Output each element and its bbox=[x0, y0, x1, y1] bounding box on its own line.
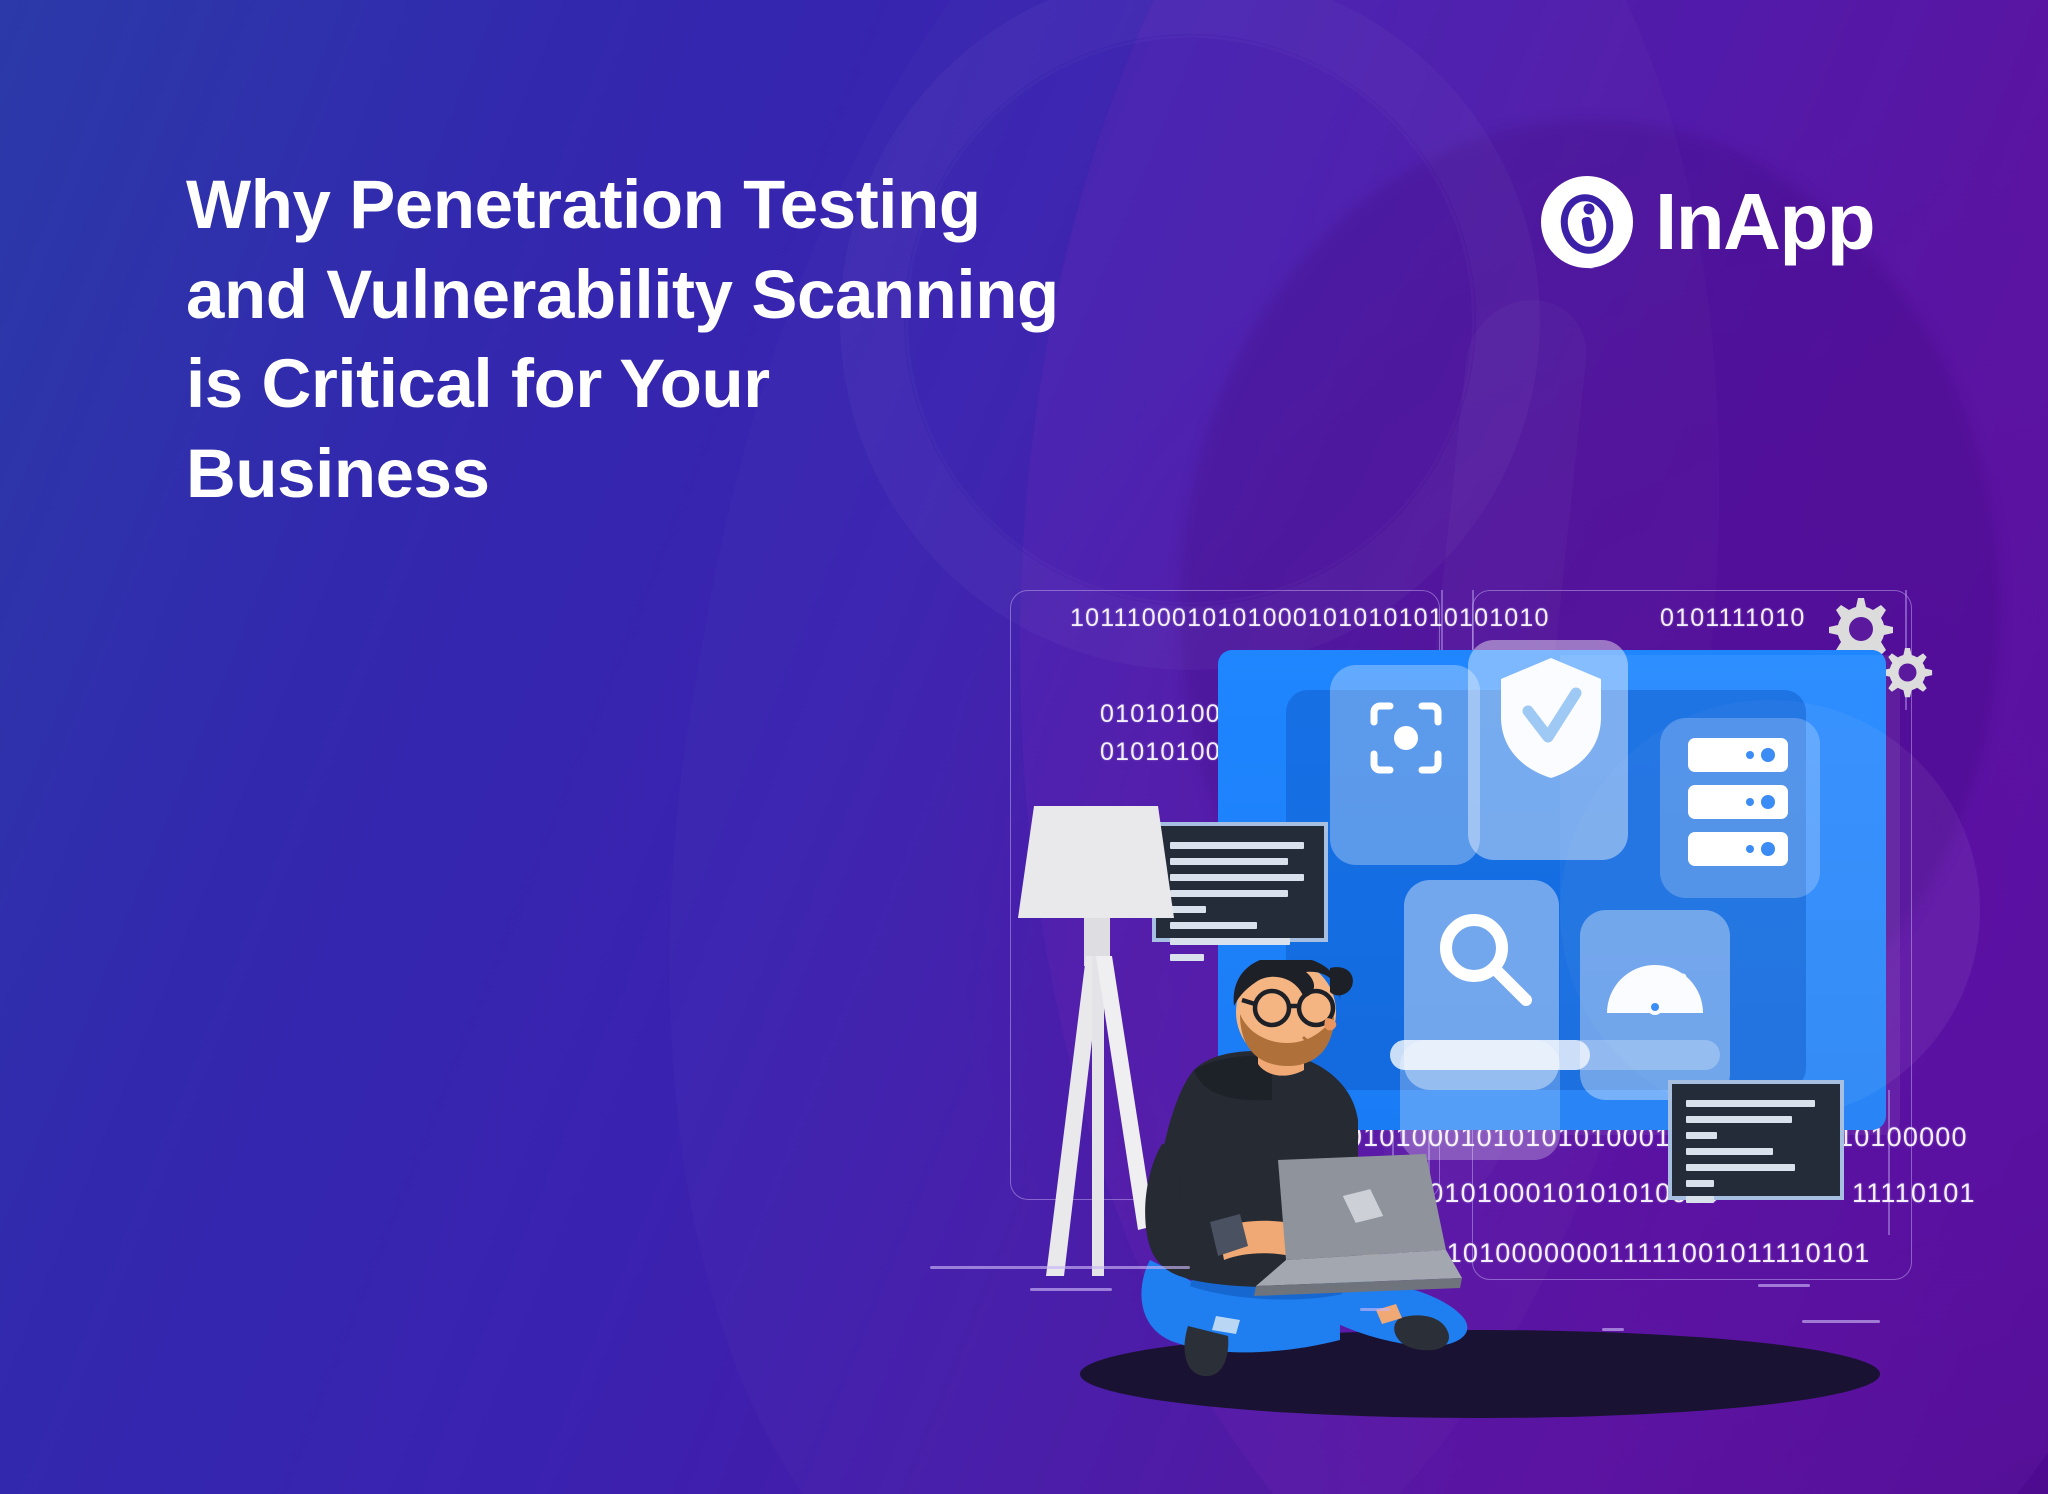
seated-developer bbox=[1090, 960, 1550, 1395]
banner-root: Why Penetration Testing and Vulnerabilit… bbox=[0, 0, 2048, 1494]
dash-4 bbox=[1758, 1284, 1810, 1287]
shield-check-icon bbox=[1498, 655, 1604, 786]
code-terminal-bottom bbox=[1668, 1080, 1844, 1200]
dash-5 bbox=[1802, 1320, 1880, 1323]
binary-row-8: 11110101 bbox=[1852, 1178, 1976, 1209]
binary-row-1: 10111000101010001010101010101010 bbox=[1070, 604, 1550, 633]
binary-row-3: 010101000 bbox=[1100, 700, 1236, 729]
gauge-icon bbox=[1605, 955, 1705, 1022]
dash-3 bbox=[1602, 1328, 1624, 1331]
dash-6 bbox=[930, 1266, 1190, 1269]
hero-illustration: 10111000101010001010101010101010 0101111… bbox=[0, 0, 2048, 1494]
binary-row-2: 0101111010 bbox=[1660, 604, 1805, 633]
server-rack-icon bbox=[1688, 738, 1788, 871]
dash-1 bbox=[1030, 1288, 1112, 1291]
scan-focus-icon bbox=[1368, 700, 1444, 781]
binary-row-4: 010101000 bbox=[1100, 738, 1236, 767]
dash-2 bbox=[1360, 1308, 1390, 1311]
